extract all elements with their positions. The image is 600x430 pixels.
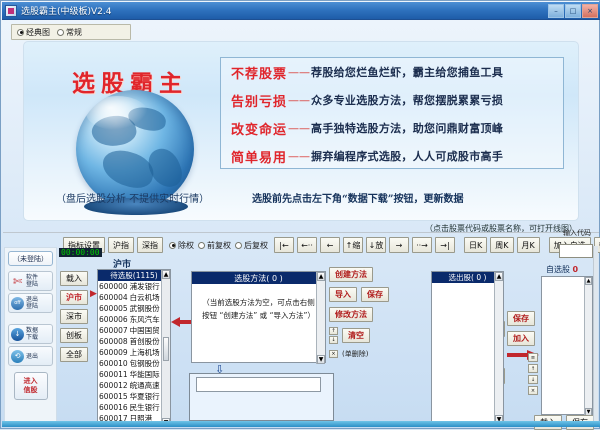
slogan-key: 改变命运 xyxy=(231,119,287,138)
stock-name[interactable]: 中国国贸 xyxy=(130,325,160,336)
stock-name[interactable]: 包钢股份 xyxy=(130,358,160,369)
slogan-key: 不荐股票 xyxy=(231,63,287,82)
stock-list-item[interactable]: 600015华夏银行 xyxy=(98,391,170,402)
promo-banner: 选股霸主 不荐股票 —— 荐股给您烂鱼烂虾，霸主给您捕鱼工具 告别亏损 —— 众… xyxy=(23,41,579,221)
radio-normal-view[interactable]: 常规 xyxy=(57,27,82,38)
method-panel-header: 选股方法( 0 ) xyxy=(192,272,325,284)
view-option-group: 经典图 常规 xyxy=(11,24,131,40)
stock-list-item[interactable]: 600004白云机场 xyxy=(98,292,170,303)
slogan-value: 摒弃编程序式选股，人人可成股市高手 xyxy=(311,148,503,164)
slogan-row: 改变命运 —— 高手独特选股方法，助您问鼎财富顶峰 xyxy=(221,114,563,142)
stock-list-item[interactable]: 600010包钢股份 xyxy=(98,358,170,369)
stock-name[interactable]: 华能国际 xyxy=(130,369,160,380)
stock-list-item[interactable]: 600008首创股份 xyxy=(98,336,170,347)
radio-label: 除权 xyxy=(178,240,194,251)
slogan-key: 简单易用 xyxy=(231,147,287,166)
formula-input-panel[interactable] xyxy=(189,373,334,421)
method-empty-line-1: （当前选股方法为空，可点击右侧 xyxy=(198,296,319,309)
zoom-out-button[interactable]: ↓放 xyxy=(366,237,386,253)
slogan-key: 告别亏损 xyxy=(231,91,287,110)
key-icon: ✄ xyxy=(11,275,24,288)
scroll-up-icon[interactable]: ▲ xyxy=(162,270,170,279)
modify-method-button[interactable]: 修改方法 xyxy=(329,307,373,322)
radio-forward-adjust[interactable]: 前复权 xyxy=(198,240,231,251)
radio-dot-icon xyxy=(169,242,176,249)
market-shenzhen-button[interactable]: 深市 xyxy=(60,309,88,324)
stock-code[interactable]: 600004 xyxy=(99,293,128,302)
stock-code[interactable]: 600005 xyxy=(99,304,128,313)
minimize-button[interactable]: – xyxy=(548,4,564,18)
candidate-stock-list[interactable]: 待选股(1115) 600000浦发银行600004白云机场600005武钢股份… xyxy=(97,269,171,426)
radio-dot-icon xyxy=(198,242,205,249)
favorites-delete-icon[interactable]: × xyxy=(528,386,538,395)
stock-name[interactable]: 皖通高速 xyxy=(130,380,160,391)
radio-label: 后复权 xyxy=(244,240,268,251)
stock-code[interactable]: 600009 xyxy=(99,348,128,357)
nav-left-icon[interactable]: ← xyxy=(320,237,340,253)
slogan-dash: —— xyxy=(288,122,310,135)
favorites-count: 0 xyxy=(573,265,579,274)
status-bar xyxy=(2,421,600,427)
stock-name[interactable]: 白云机场 xyxy=(130,292,160,303)
logout-button[interactable]: off 退出登陆 xyxy=(8,293,53,313)
market-load-button[interactable]: 载入 xyxy=(60,271,88,286)
exit-button[interactable]: ⟲ 退出 xyxy=(8,346,53,366)
button-label: 数据下载 xyxy=(26,327,38,341)
divider xyxy=(3,232,599,233)
enter-simulation-button[interactable]: 进入 信股 xyxy=(14,372,48,400)
selected-output-list[interactable]: 选出股( 0 ) ▲ ▼ xyxy=(431,271,504,423)
scroll-up-icon[interactable]: ▲ xyxy=(317,272,325,281)
window-frame: 选股霸主(中级板)V2.4 – □ × 经典图 常规 选股霸主 xyxy=(0,0,600,429)
method-empty-line-2: 按钮 “创建方法” 或 “导入方法”） xyxy=(198,309,319,322)
stock-list-item[interactable]: 600012皖通高速 xyxy=(98,380,170,391)
exit-icon: ⟲ xyxy=(11,350,24,363)
method-action-column: 创建方法 导入 保存 修改方法 ↑ ↓ 清空 × (单删除) xyxy=(329,267,417,364)
method-panel-scrollbar[interactable]: ▲ ▼ xyxy=(316,272,325,364)
data-download-button[interactable]: ↓ 数据下载 xyxy=(8,324,53,344)
page-scrollbar[interactable] xyxy=(593,246,598,422)
candidate-list-header: 待选股(1115) xyxy=(98,270,170,281)
stock-name[interactable]: 华夏银行 xyxy=(130,391,160,402)
favorites-title: 自选股 0 xyxy=(546,264,578,275)
favorites-move-up-icon[interactable]: ↑ xyxy=(528,364,538,373)
stock-code[interactable]: 600011 xyxy=(99,370,128,379)
stock-name[interactable]: 民生银行 xyxy=(130,402,160,413)
maximize-button[interactable]: □ xyxy=(565,4,581,18)
stock-name[interactable]: 首创股份 xyxy=(130,336,160,347)
stock-list-item[interactable]: 600007中国国贸 xyxy=(98,325,170,336)
method-empty-message: （当前选股方法为空，可点击右侧 按钮 “创建方法” 或 “导入方法”） xyxy=(192,284,325,322)
zoom-in-button[interactable]: ↑缩 xyxy=(343,237,363,253)
slogan-dash: —— xyxy=(288,66,310,79)
slogan-row: 简单易用 —— 摒弃编程序式选股，人人可成股市高手 xyxy=(221,142,563,170)
title-bar: 选股霸主(中级板)V2.4 – □ × xyxy=(2,2,600,20)
stock-rows-container: 600000浦发银行600004白云机场600005武钢股份600006东风汽车… xyxy=(98,281,170,426)
shenzhen-index-button[interactable]: 深指 xyxy=(137,237,163,253)
code-input-label: 输入代码 xyxy=(559,229,595,238)
stock-list-item[interactable]: 600005武钢股份 xyxy=(98,303,170,314)
favorites-move-down-icon[interactable]: ↓ xyxy=(528,375,538,384)
nav-page-left-icon[interactable]: ←·· xyxy=(297,237,317,253)
favorites-reorder-group: ≡ ↑ ↓ × xyxy=(528,353,538,395)
radio-label: 前复权 xyxy=(207,240,231,251)
rights-adjust-group: 除权 前复权 后复权 xyxy=(169,240,268,251)
software-login-button[interactable]: ✄ 软件登陆 xyxy=(8,271,53,291)
stock-code[interactable]: 600015 xyxy=(99,392,128,401)
window-title: 选股霸主(中级板)V2.4 xyxy=(21,4,112,17)
button-label: 退出 xyxy=(26,353,38,360)
delete-note-label: (单删除) xyxy=(342,349,368,359)
stock-code[interactable]: 600006 xyxy=(99,315,128,324)
favorites-list[interactable]: ▲ ▼ xyxy=(541,276,593,415)
radio-dot-icon xyxy=(57,29,64,36)
slogan-box: 不荐股票 —— 荐股给您烂鱼烂虾，霸主给您捕鱼工具 告别亏损 —— 众多专业选股… xyxy=(220,57,564,169)
close-button[interactable]: × xyxy=(582,4,598,18)
slogan-dash: —— xyxy=(288,150,310,163)
radio-label: 常规 xyxy=(66,27,82,38)
stock-list-item[interactable]: 600006东风汽车 xyxy=(98,314,170,325)
move-down-icon[interactable]: ↓ xyxy=(329,336,338,344)
method-reorder-group: ↑ ↓ xyxy=(329,327,338,344)
nav-last-icon[interactable]: →| xyxy=(435,237,455,253)
output-action-column: 保存 加入 xyxy=(507,311,535,358)
scroll-up-icon[interactable]: ▲ xyxy=(585,277,592,285)
radio-dot-icon xyxy=(17,29,24,36)
stock-list-item[interactable]: 600009上海机场 xyxy=(98,347,170,358)
clear-method-button[interactable]: 清空 xyxy=(342,328,370,343)
banner-note-left: （盘后选股分析 不提供实时行情） xyxy=(56,190,209,205)
feed-left-arrow-icon xyxy=(171,317,191,326)
slogan-value: 众多专业选股方法，帮您摆脱累累亏损 xyxy=(311,92,503,108)
logout-icon: off xyxy=(11,297,24,310)
selection-pointer-icon: ▶ xyxy=(90,289,97,299)
slogan-row: 不荐股票 —— 荐股给您烂鱼烂虾，霸主给您捕鱼工具 xyxy=(221,58,563,86)
button-label: 软件登陆 xyxy=(26,274,38,288)
stock-list-item[interactable]: 600000浦发银行 xyxy=(98,281,170,292)
stock-code[interactable]: 600000 xyxy=(99,282,128,291)
market-shanghai-button[interactable]: 沪市 xyxy=(60,290,88,305)
favorites-list-scrollbar[interactable]: ▲ ▼ xyxy=(584,277,592,416)
nav-right-icon[interactable]: → xyxy=(389,237,409,253)
enter-line-2: 信股 xyxy=(24,386,38,395)
save-output-button[interactable]: 保存 xyxy=(507,311,535,326)
scroll-up-icon[interactable]: ▲ xyxy=(495,272,503,281)
delete-icon[interactable]: × xyxy=(329,350,338,358)
save-method-button[interactable]: 保存 xyxy=(361,287,389,302)
nav-page-right-icon[interactable]: ··→ xyxy=(412,237,432,253)
radio-dot-icon xyxy=(235,242,242,249)
market-button-group: 载入 沪市 深市 创板 全部 xyxy=(60,271,90,366)
stock-name[interactable]: 浦发银行 xyxy=(130,281,160,292)
market-all-button[interactable]: 全部 xyxy=(60,347,88,362)
move-up-icon[interactable]: ↑ xyxy=(329,327,338,335)
favorites-menu-icon[interactable]: ≡ xyxy=(528,353,538,362)
download-icon: ↓ xyxy=(11,328,24,341)
radio-label: 经典图 xyxy=(26,27,50,38)
monthly-k-button[interactable]: 月K xyxy=(517,237,540,253)
stock-name[interactable]: 武钢股份 xyxy=(130,303,160,314)
scroll-down-icon[interactable]: ▼ xyxy=(317,355,325,364)
stock-code[interactable]: 600007 xyxy=(99,326,128,335)
import-method-button[interactable]: 导入 xyxy=(329,287,357,302)
stock-list-item[interactable]: 600011华能国际 xyxy=(98,369,170,380)
slogan-dash: —— xyxy=(288,94,310,107)
radio-backward-adjust[interactable]: 后复权 xyxy=(235,240,268,251)
stock-code[interactable]: 600016 xyxy=(99,403,128,412)
stock-code[interactable]: 600008 xyxy=(99,337,128,346)
stock-code[interactable]: 600010 xyxy=(99,359,128,368)
radio-ex-rights[interactable]: 除权 xyxy=(169,240,194,251)
weekly-k-button[interactable]: 周K xyxy=(490,237,513,253)
stock-name[interactable]: 东风汽车 xyxy=(130,314,160,325)
output-list-header: 选出股( 0 ) xyxy=(432,272,503,283)
shanghai-index-button[interactable]: 沪指 xyxy=(108,237,134,253)
stock-list-item[interactable]: 600016民生银行 xyxy=(98,402,170,413)
application-window: 选股霸主(中级板)V2.4 – □ × 经典图 常规 选股霸主 xyxy=(0,0,600,429)
formula-input-field[interactable] xyxy=(196,377,321,392)
main-toolbar: 指标设置 沪指 深指 除权 前复权 后复权 |← ←·· ← ↑缩 xyxy=(63,236,600,254)
create-method-button[interactable]: 创建方法 xyxy=(329,267,373,282)
slogan-value: 高手独特选股方法，助您问鼎财富顶峰 xyxy=(311,120,503,136)
window-controls: – □ × xyxy=(548,4,598,18)
left-sidebar: （未登陆） ✄ 软件登陆 off 退出登陆 ↓ 数据下载 xyxy=(4,247,57,427)
candidate-list-scrollbar[interactable]: ▲ ▼ xyxy=(161,270,170,426)
code-input[interactable] xyxy=(559,244,593,258)
daily-k-button[interactable]: 日K xyxy=(464,237,487,253)
output-list-scrollbar[interactable]: ▲ ▼ xyxy=(494,272,503,424)
stock-picking-method-panel[interactable]: 选股方法( 0 ) （当前选股方法为空，可点击右侧 按钮 “创建方法” 或 “导… xyxy=(191,271,326,363)
code-entry-group: 输入代码 xyxy=(559,229,595,258)
button-label: 退出登陆 xyxy=(26,296,38,310)
enter-line-1: 进入 xyxy=(24,377,38,386)
session-timer: 00:00:00 xyxy=(59,248,102,257)
app-icon xyxy=(5,5,17,17)
market-chinext-button[interactable]: 创板 xyxy=(60,328,88,343)
banner-note-right: 选股前先点击左下角“数据下载”按钮，更新数据 xyxy=(252,190,464,205)
login-status-badge: （未登陆） xyxy=(8,251,53,266)
radio-classic-chart[interactable]: 经典图 xyxy=(17,27,50,38)
scroll-thumb[interactable] xyxy=(163,337,169,361)
stock-name[interactable]: 上海机场 xyxy=(130,347,160,358)
slogan-value: 荐股给您烂鱼烂虾，霸主给您捕鱼工具 xyxy=(311,64,503,80)
add-output-button[interactable]: 加入 xyxy=(507,331,535,346)
stock-code[interactable]: 600012 xyxy=(99,381,128,390)
nav-first-icon[interactable]: |← xyxy=(274,237,294,253)
slogan-row: 告别亏损 —— 众多专业选股方法，帮您摆脱累累亏损 xyxy=(221,86,563,114)
